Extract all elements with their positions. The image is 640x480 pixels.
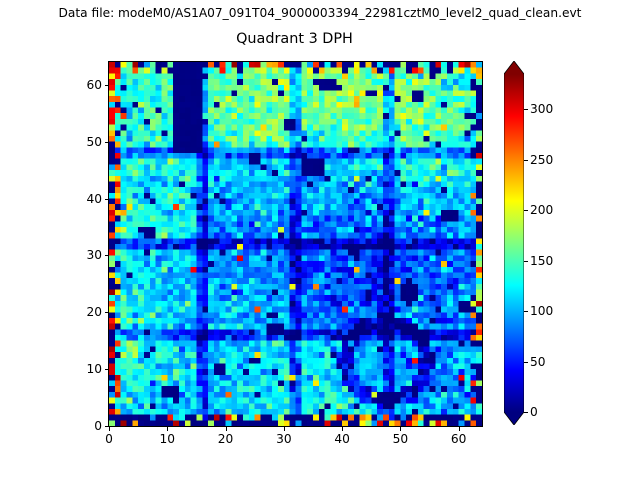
matplotlib-figure: Data file: modeM0/AS1A07_091T04_90000033… [0, 0, 640, 480]
colorbar-tick-mark [524, 160, 528, 161]
colorbar-tick-mark [524, 412, 528, 413]
x-tick-mark [226, 427, 227, 431]
y-tick-mark [105, 369, 109, 370]
colorbar-tick-label: 0 [530, 405, 538, 419]
x-tick-label: 10 [160, 432, 176, 446]
colorbar-tick-label: 150 [530, 254, 553, 268]
x-tick-label: 50 [393, 432, 409, 446]
x-tick-mark [109, 427, 110, 431]
x-tick-mark [342, 427, 343, 431]
y-tick-mark [105, 426, 109, 427]
y-tick-label: 60 [66, 78, 102, 92]
y-tick-mark [105, 255, 109, 256]
colorbar-tick-label: 250 [530, 153, 553, 167]
figure-suptitle: Data file: modeM0/AS1A07_091T04_90000033… [0, 6, 640, 21]
colorbar [504, 61, 524, 425]
colorbar-tick-mark [524, 261, 528, 262]
x-tick-label: 60 [451, 432, 467, 446]
colorbar-gradient [504, 61, 524, 425]
colorbar-tick-mark [524, 109, 528, 110]
colorbar-tick-mark [524, 311, 528, 312]
colorbar-tick-label: 100 [530, 304, 553, 318]
x-tick-mark [459, 427, 460, 431]
y-tick-label: 10 [66, 362, 102, 376]
x-tick-mark [167, 427, 168, 431]
y-tick-label: 40 [66, 192, 102, 206]
y-tick-mark [105, 142, 109, 143]
axes-title: Quadrant 3 DPH [108, 30, 481, 48]
y-tick-mark [105, 199, 109, 200]
y-tick-label: 50 [66, 135, 102, 149]
colorbar-tick-label: 200 [530, 203, 553, 217]
colorbar-tick-mark [524, 210, 528, 211]
y-tick-mark [105, 85, 109, 86]
x-tick-label: 30 [276, 432, 292, 446]
y-tick-label: 0 [66, 419, 102, 433]
y-tick-mark [105, 312, 109, 313]
x-tick-label: 40 [334, 432, 350, 446]
colorbar-max-extend-arrow [504, 61, 524, 74]
heatmap-axes [108, 61, 483, 427]
heatmap-image [109, 62, 482, 426]
colorbar-body [504, 74, 524, 412]
x-tick-label: 0 [105, 432, 113, 446]
colorbar-tick-mark [524, 362, 528, 363]
y-tick-label: 20 [66, 305, 102, 319]
colorbar-min-extend-arrow [504, 412, 524, 425]
x-tick-mark [400, 427, 401, 431]
y-tick-label: 30 [66, 248, 102, 262]
x-tick-label: 20 [218, 432, 234, 446]
x-tick-mark [284, 427, 285, 431]
colorbar-tick-label: 50 [530, 355, 546, 369]
colorbar-tick-label: 300 [530, 102, 553, 116]
